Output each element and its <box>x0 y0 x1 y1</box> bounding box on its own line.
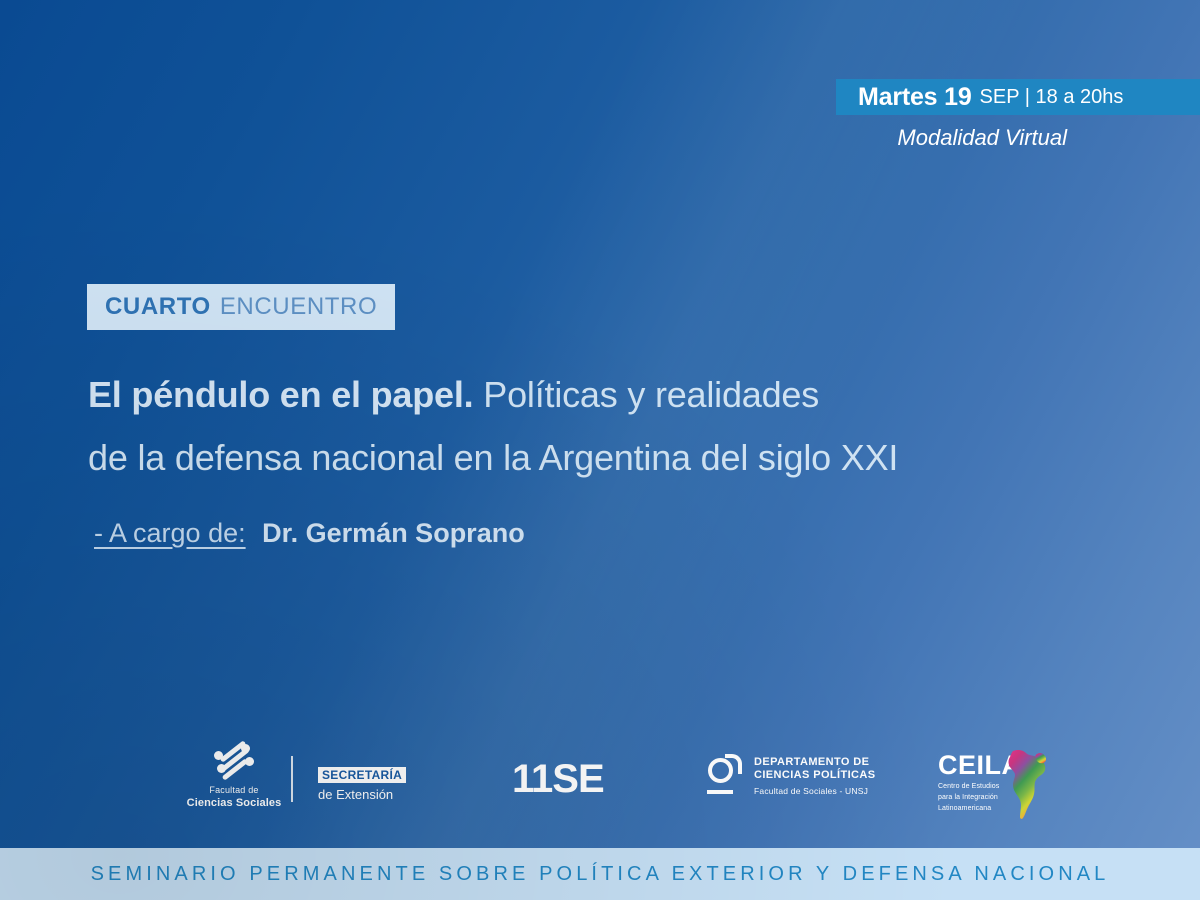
logo-sec-line1: SECRETARÍA <box>318 767 406 783</box>
event-poster: Martes 19 SEP | 18 a 20hs Modalidad Virt… <box>0 0 1200 900</box>
ring-hook-icon <box>705 754 745 796</box>
footer-text: SEMINARIO PERMANENTE SOBRE POLÍTICA EXTE… <box>91 863 1110 886</box>
logo-facultad-ciencias-sociales: Facultad de Ciencias Sociales <box>178 744 290 810</box>
logo-divider <box>291 756 293 802</box>
encounter-badge: CUARTO ENCUENTRO <box>87 284 395 330</box>
logo-ceila: CEILA Centro de Estudios para la Integra… <box>938 750 1068 813</box>
logo-fcs-line2: Ciencias Sociales <box>178 796 290 810</box>
title-main: El péndulo en el papel. <box>88 374 473 415</box>
logo-row: Facultad de Ciencias Sociales SECRETARÍA… <box>0 740 1200 830</box>
speaker-line: - A cargo de: Dr. Germán Soprano <box>94 518 525 549</box>
logo-dcp-line3: Facultad de Sociales - UNSJ <box>754 785 876 797</box>
badge-ordinal: CUARTO <box>105 293 211 321</box>
title-subtitle-line1: Políticas y realidades <box>483 374 819 415</box>
page-title: El péndulo en el papel. Políticas y real… <box>88 363 1168 489</box>
speaker-name: Dr. Germán Soprano <box>262 518 525 548</box>
badge-word: ENCUENTRO <box>220 293 377 321</box>
footer-bar: SEMINARIO PERMANENTE SOBRE POLÍTICA EXTE… <box>0 848 1200 900</box>
logo-dcp-line2: CIENCIAS POLÍTICAS <box>754 769 876 782</box>
logo-dcp-line1: DEPARTAMENTO DE <box>754 756 876 769</box>
speaker-label: - A cargo de: <box>94 518 246 548</box>
logo-departamento-ciencias-politicas: DEPARTAMENTO DE CIENCIAS POLÍTICAS Facul… <box>705 754 905 797</box>
latin-america-map-icon <box>1004 748 1050 820</box>
logo-iise: 11SE <box>512 757 604 801</box>
date-day: Martes 19 <box>858 83 972 112</box>
logo-secretaria-extension: SECRETARÍA de Extensión <box>318 766 414 803</box>
title-subtitle-line2: de la defensa nacional en la Argentina d… <box>88 426 1168 489</box>
date-banner: Martes 19 SEP | 18 a 20hs <box>836 79 1200 115</box>
modality-label: Modalidad Virtual <box>836 125 1200 151</box>
logo-iise-text: 11SE <box>512 757 604 801</box>
logo-fcs-line1: Facultad de <box>178 784 290 796</box>
diagonal-bars-icon <box>214 744 254 778</box>
date-time-range: SEP | 18 a 20hs <box>980 86 1124 109</box>
logo-sec-line2: de Extensión <box>318 786 414 803</box>
